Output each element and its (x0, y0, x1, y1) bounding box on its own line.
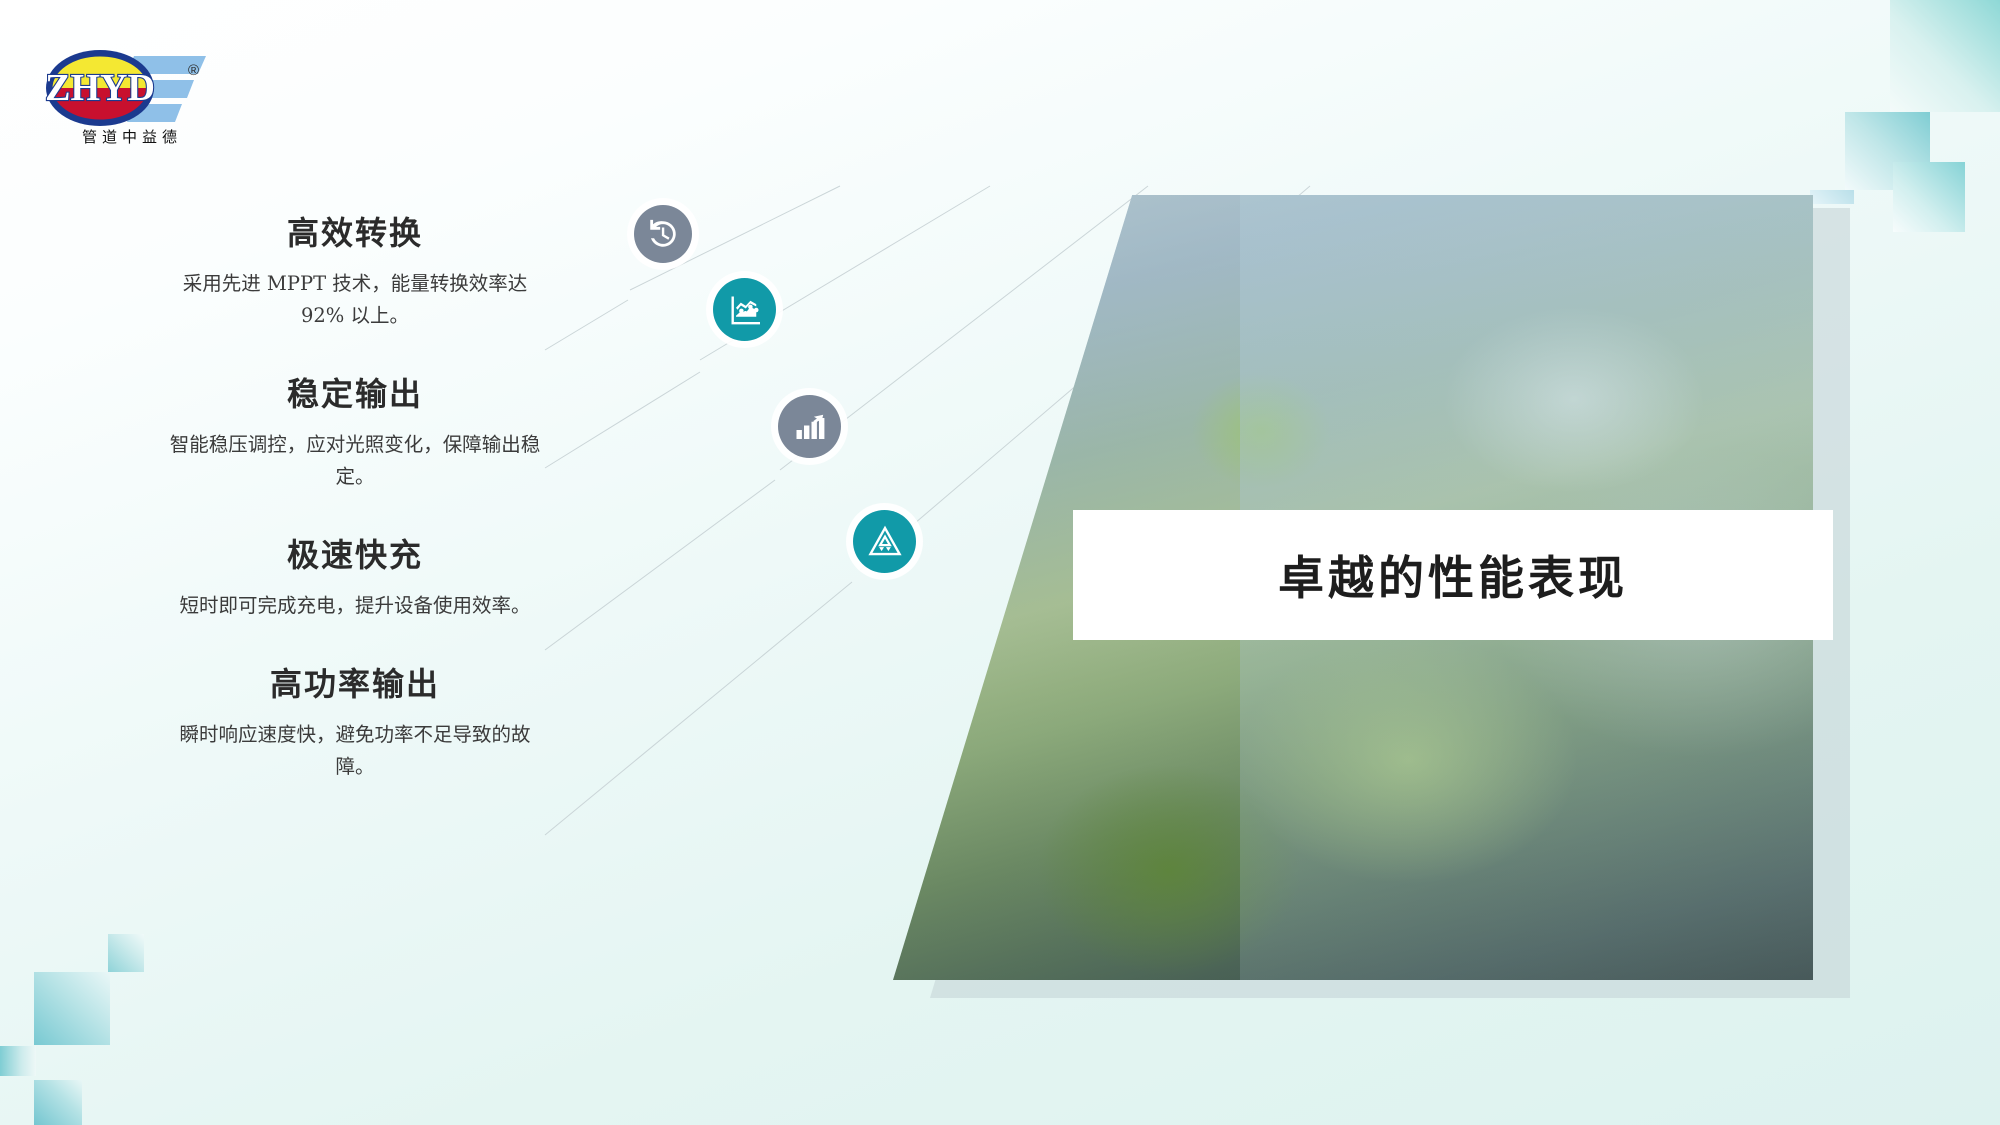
decor-square (34, 1080, 82, 1125)
hero-title: 卓越的性能表现 (1278, 542, 1628, 608)
decor-square (1845, 112, 1930, 190)
decor-square (0, 1046, 36, 1076)
history-clock-icon (646, 217, 680, 251)
icon-bubble-line-chart[interactable] (713, 278, 776, 341)
brand-logo: ZHYD ® 管道中益德 (38, 40, 213, 145)
feature-title: 高效转换 (150, 215, 560, 252)
registered-mark-icon: ® (188, 62, 199, 79)
feature-item: 高效转换 采用先进 MPPT 技术，能量转换效率达 92% 以上。 (150, 215, 560, 332)
slide-root: ZHYD ® 管道中益德 (0, 0, 2000, 1125)
feature-title: 高功率输出 (150, 666, 560, 703)
hero-title-banner: 卓越的性能表现 (1073, 510, 1833, 640)
feature-description: 采用先进 MPPT 技术，能量转换效率达 92% 以上。 (150, 268, 560, 332)
icon-bubble-triangle-badge[interactable] (853, 510, 916, 573)
decor-square (1810, 190, 1854, 204)
feature-title: 稳定输出 (150, 376, 560, 413)
line-chart-icon (727, 292, 763, 328)
feature-list: 高效转换 采用先进 MPPT 技术，能量转换效率达 92% 以上。 稳定输出 智… (150, 215, 560, 783)
decor-square (34, 972, 110, 1045)
triangle-badge-icon (866, 523, 904, 561)
decor-square (108, 934, 144, 972)
brand-logo-caption: 管道中益德 (82, 126, 182, 147)
svg-text:ZHYD: ZHYD (45, 67, 155, 109)
icon-bubble-bar-chart-growth[interactable] (778, 395, 841, 458)
bar-chart-growth-icon (792, 409, 828, 445)
feature-item: 极速快充 短时即可完成充电，提升设备使用效率。 (150, 537, 560, 622)
feature-title: 极速快充 (150, 537, 560, 574)
feature-item: 高功率输出 瞬时响应速度快，避免功率不足导致的故障。 (150, 666, 560, 783)
decor-square (1893, 162, 1965, 232)
decor-square (1890, 0, 2000, 112)
feature-description: 短时即可完成充电，提升设备使用效率。 (150, 590, 560, 622)
feature-description: 瞬时响应速度快，避免功率不足导致的故障。 (150, 719, 560, 783)
feature-item: 稳定输出 智能稳压调控，应对光照变化，保障输出稳定。 (150, 376, 560, 493)
icon-bubble-history-clock[interactable] (634, 205, 692, 263)
feature-description: 智能稳压调控，应对光照变化，保障输出稳定。 (150, 429, 560, 493)
